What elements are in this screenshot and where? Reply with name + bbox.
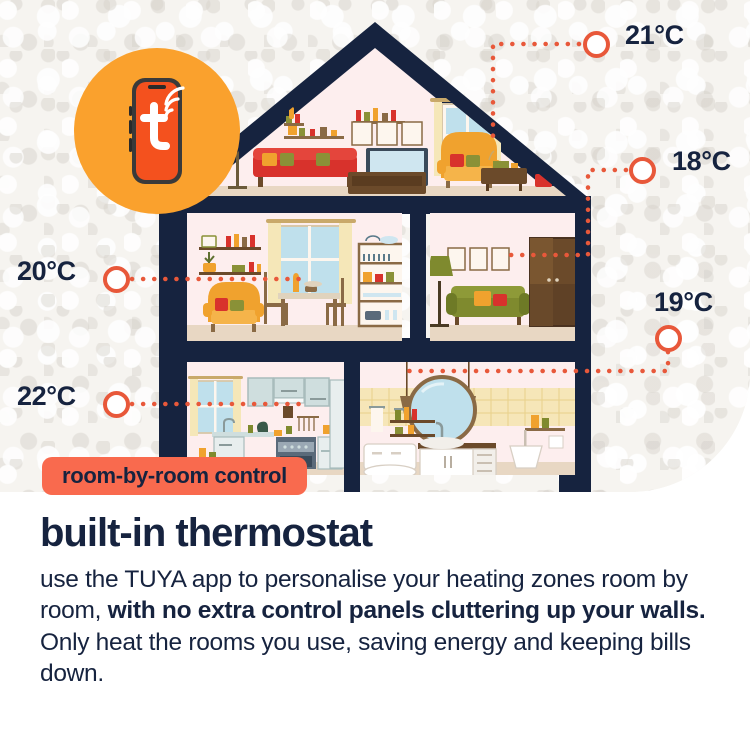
marker-label-22: 22°C [17, 381, 76, 412]
connector-18 [505, 170, 626, 255]
marker-label-19: 19°C [654, 287, 713, 318]
marker-label-21: 21°C [625, 20, 684, 51]
marker-circle-19[interactable] [655, 325, 682, 352]
connector-19 [402, 352, 668, 371]
tuya-app-badge[interactable] [74, 48, 240, 214]
hero-image-panel: 21°C 18°C 19°C 20°C 22°C [0, 0, 750, 492]
marker-circle-20[interactable] [103, 266, 130, 293]
copy-block: built-in thermostat use the TUYA app to … [40, 512, 720, 689]
page-title: built-in thermostat [40, 512, 720, 554]
promo-card: 21°C 18°C 19°C 20°C 22°C [0, 0, 750, 750]
room-by-room-banner: room-by-room control [42, 457, 307, 495]
marker-label-18: 18°C [672, 146, 731, 177]
marker-circle-18[interactable] [629, 157, 656, 184]
banner-label: room-by-room control [62, 463, 287, 489]
body-copy: use the TUYA app to personalise your hea… [40, 564, 720, 689]
tuya-phone-icon [74, 48, 240, 214]
body-bold: with no extra control panels cluttering … [108, 597, 706, 624]
marker-label-20: 20°C [17, 256, 76, 287]
marker-circle-21[interactable] [583, 31, 610, 58]
marker-circle-22[interactable] [103, 391, 130, 418]
body-part-2: Only heat the rooms you use, saving ener… [40, 629, 691, 687]
connector-21 [493, 44, 579, 146]
